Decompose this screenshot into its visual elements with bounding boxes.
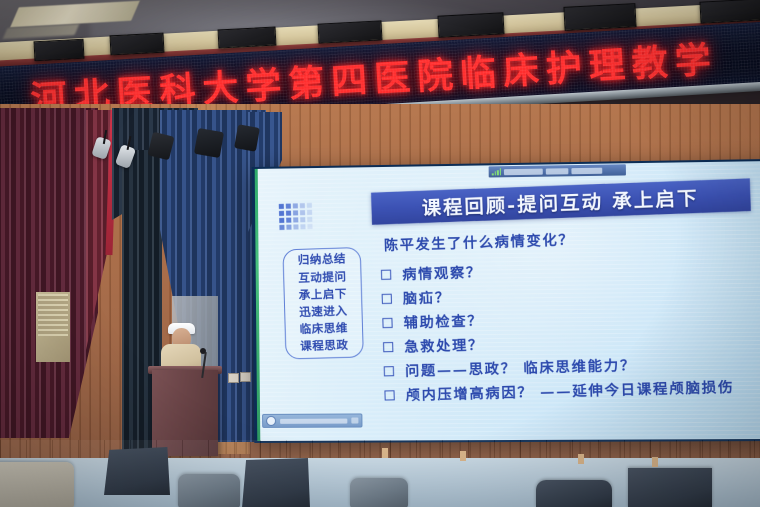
microphone-icon	[200, 348, 206, 354]
wall-window-louvers	[38, 294, 68, 336]
audience-seat	[242, 458, 310, 507]
audience-seat	[536, 480, 612, 507]
checkbox-square-icon	[381, 270, 391, 280]
signal-bars-icon	[492, 168, 501, 175]
bullet-text: 脑疝？	[403, 287, 451, 309]
status-text-block	[504, 168, 543, 175]
dot-grid-decoration	[279, 203, 313, 230]
slide-left-accent-bar	[255, 169, 261, 441]
status-text-block	[571, 167, 602, 174]
taskbar-window-button[interactable]	[262, 413, 362, 428]
audience-seat	[104, 447, 170, 495]
checkbox-square-icon	[382, 294, 392, 304]
floor-marker	[460, 451, 466, 461]
stage-spotlight-dark	[194, 128, 224, 158]
hanging-speaker	[563, 3, 636, 31]
slide-title: 课程回顾-提问互动 承上启下	[421, 183, 699, 221]
checkbox-square-icon	[384, 366, 394, 376]
slide-title-bar: 课程回顾-提问互动 承上启下	[371, 178, 751, 224]
slide-lead-question: 陈平发生了什么病情变化？	[384, 229, 575, 255]
side-box-item: 课程思政	[300, 338, 349, 355]
presentation-slide: 课程回顾-提问互动 承上启下 归纳总结 互动提问 承上启下 迅速进入 临床思维 …	[255, 161, 760, 441]
taskbar-button-label	[280, 418, 347, 423]
side-box-item: 互动提问	[298, 269, 347, 286]
bullet-text: 急救处理？	[404, 334, 484, 356]
checkbox-square-icon	[382, 318, 392, 328]
side-box-item: 归纳总结	[298, 252, 347, 269]
wall-socket	[228, 373, 239, 383]
audience-seat	[628, 468, 712, 507]
status-strip[interactable]	[489, 164, 626, 177]
floor-marker	[382, 448, 388, 458]
hanging-speaker	[699, 0, 760, 24]
bullet-text: 病情观察？	[402, 262, 482, 285]
slide-bullet-list: 病情观察？ 脑疝？ 辅助检查？ 急救处理？ 问题——思政？ 临床思维能力？	[381, 252, 735, 407]
floor-marker	[652, 457, 658, 467]
projection-screen: 课程回顾-提问互动 承上启下 归纳总结 互动提问 承上启下 迅速进入 临床思维 …	[252, 159, 760, 443]
hanging-speaker	[218, 26, 277, 48]
audience-seat	[0, 462, 74, 507]
slide-side-keyword-box: 归纳总结 互动提问 承上启下 迅速进入 临床思维 课程思政	[282, 247, 363, 360]
floor-marker	[578, 454, 584, 464]
bullet-text: 辅助检查？	[403, 310, 483, 332]
checkbox-square-icon	[384, 390, 394, 400]
stage-spotlight-dark	[234, 124, 260, 151]
checkbox-square-icon	[383, 342, 393, 352]
side-box-item: 迅速进入	[299, 304, 348, 321]
side-box-item: 承上启下	[299, 286, 348, 303]
wall-socket	[240, 372, 251, 382]
taskbar-divider	[351, 417, 358, 423]
media-player-icon	[266, 416, 276, 426]
hanging-speaker	[318, 20, 383, 43]
hanging-speaker	[34, 39, 85, 62]
audience-seat	[178, 474, 240, 507]
bullet-text: 颅内压增高病因？ ——延伸今日课程颅脑损伤	[405, 377, 734, 405]
lecture-hall-photo: 河北医科大学第四医院临床护理教学	[0, 0, 760, 507]
hanging-speaker	[110, 33, 165, 56]
side-box-item: 临床思维	[300, 321, 349, 338]
audience-seat	[350, 478, 408, 507]
status-text-block	[546, 168, 569, 174]
hanging-speaker	[437, 12, 504, 37]
